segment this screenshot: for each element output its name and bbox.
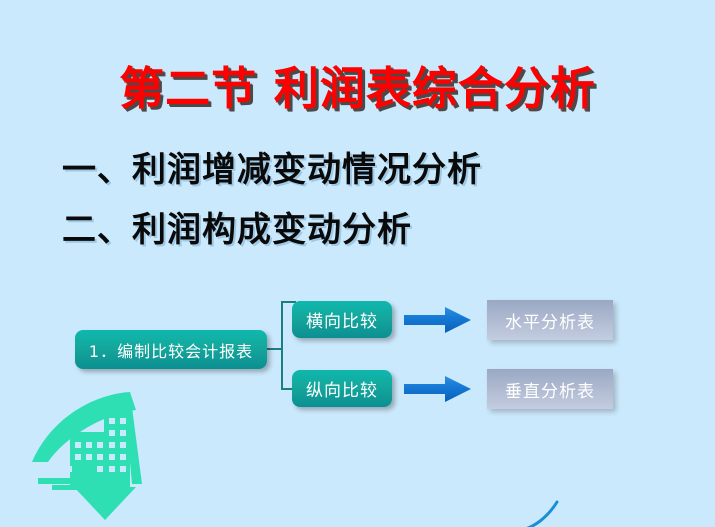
right-arrow-icon-1	[402, 306, 474, 334]
right-arrow-icon-2	[402, 375, 474, 403]
building-logo-icon	[26, 392, 186, 522]
node-horizontal-analysis-table[interactable]: 水平分析表	[487, 300, 613, 340]
node-label: 纵向比较	[306, 376, 378, 401]
swoosh-curve-icon	[515, 496, 575, 527]
node-label: 1．编制比较会计报表	[89, 338, 253, 362]
bullet-line-1: 一、利润增减变动情况分析	[62, 142, 482, 191]
node-vertical-comparison[interactable]: 纵向比较	[292, 370, 392, 407]
presentation-slide: 第二节 利润表综合分析 一、利润增减变动情况分析 二、利润构成变动分析 1．编制…	[0, 0, 715, 527]
slide-title: 第二节 利润表综合分析	[0, 52, 715, 117]
node-label: 水平分析表	[505, 308, 595, 333]
node-compile-comparative-statements[interactable]: 1．编制比较会计报表	[75, 330, 267, 369]
node-vertical-analysis-table[interactable]: 垂直分析表	[487, 369, 613, 409]
node-label: 横向比较	[306, 307, 378, 332]
node-horizontal-comparison[interactable]: 横向比较	[292, 301, 392, 338]
bullet-line-2: 二、利润构成变动分析	[62, 202, 412, 251]
node-label: 垂直分析表	[505, 377, 595, 402]
